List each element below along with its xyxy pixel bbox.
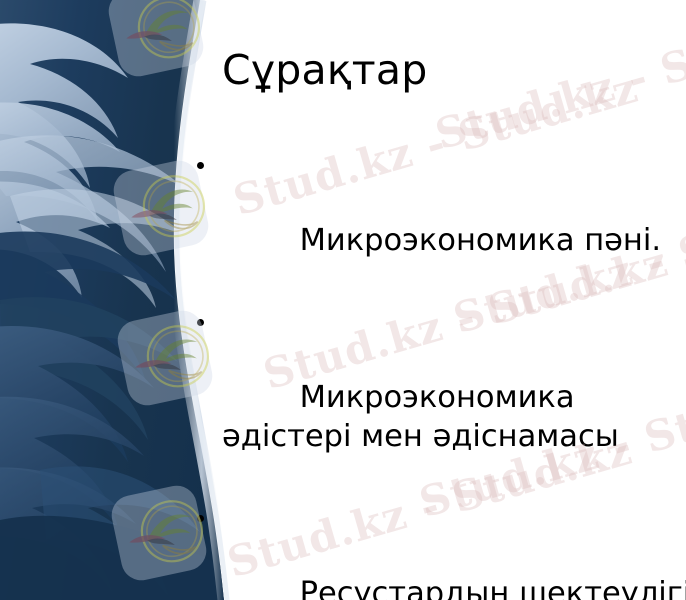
list-item: Ресустардың шектеулігі мен таңдаудың аль… [193, 496, 686, 600]
bullet-dot-icon [197, 319, 204, 326]
list-item-text: Микроэкономика пәні. [300, 223, 661, 258]
bullet-dot-icon [197, 515, 204, 522]
slide-content: Сұрақтар Микроэкономика пәні. Микроэконо… [0, 0, 686, 600]
page-title: Сұрақтар [222, 48, 427, 92]
list-item: Микроэкономика пәні. [193, 143, 686, 300]
presentation-slide: Сұрақтар Микроэкономика пәні. Микроэконо… [0, 0, 686, 600]
list-item: Микроэкономика әдістері мен әдіснамасы [193, 300, 686, 496]
bullet-dot-icon [197, 162, 204, 169]
list-item-text: Ресустардың шектеулігі мен таңдаудың аль… [222, 576, 686, 600]
list-item-text: Микроэкономика әдістері мен әдіснамасы [222, 380, 619, 454]
bullet-list: Микроэкономика пәні. Микроэкономика әдіс… [193, 143, 686, 600]
